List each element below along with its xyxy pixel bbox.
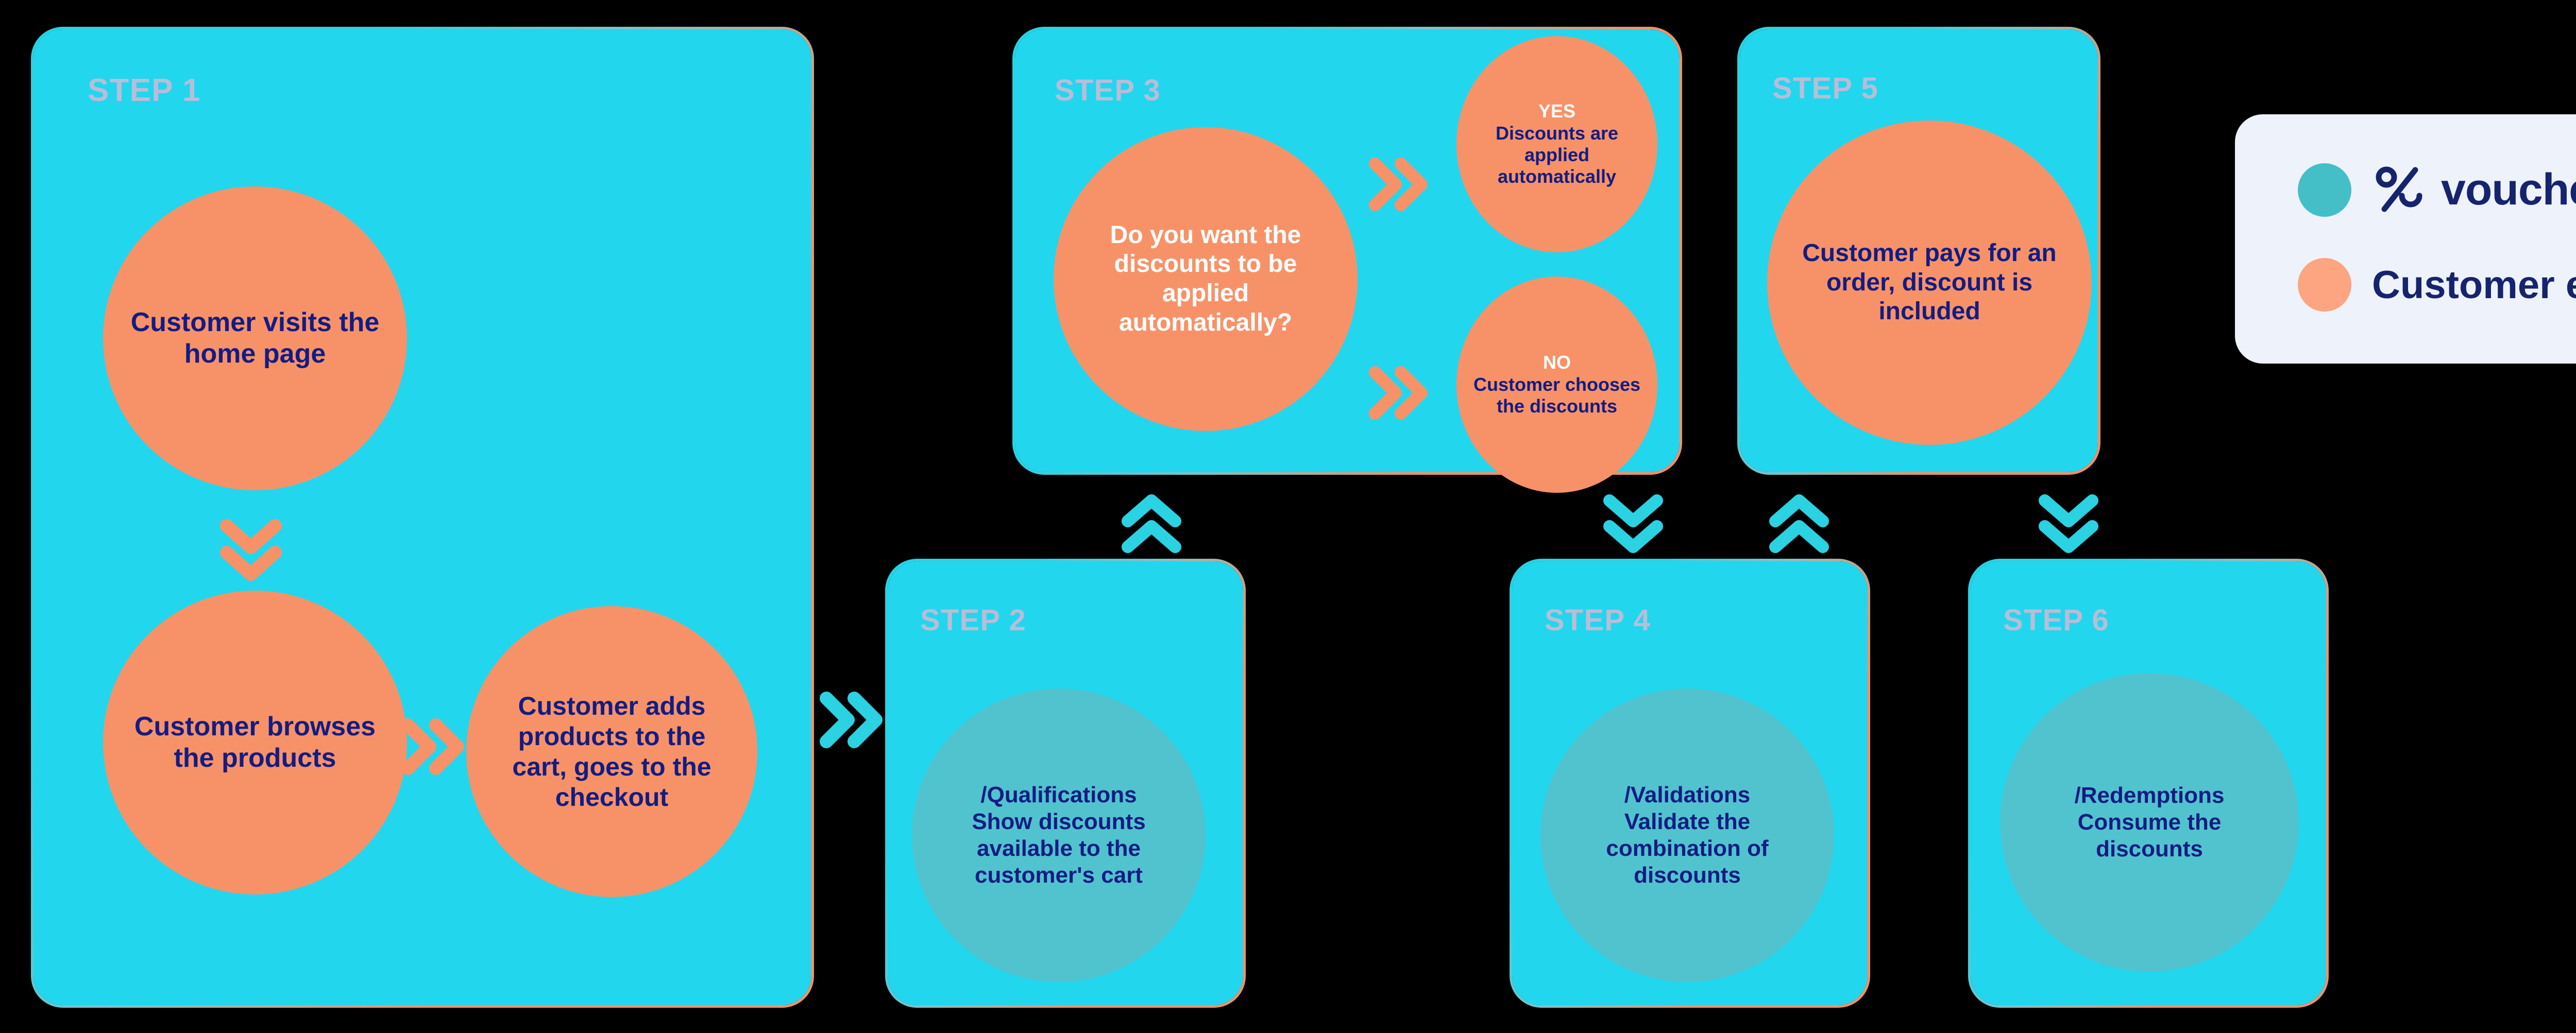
legend-item-customer-experience: Customer experience	[2298, 258, 2576, 312]
bubble-text: Customer visits the home page	[103, 307, 407, 370]
double-chevron-right-icon-step1	[401, 716, 468, 778]
bubble-text: Customer browses the products	[103, 711, 407, 774]
voucherify-logo: voucherify	[2372, 162, 2576, 218]
bubble-text-block: YES Discounts are applied automatically	[1456, 100, 1657, 188]
step-card-6[interactable]: STEP 6 /Redemptions Consume the discount…	[1968, 559, 2329, 1008]
voucherify-wordmark: voucherify	[2441, 164, 2576, 215]
bubble-text: Show discounts available to the customer…	[972, 809, 1145, 888]
step-card-1[interactable]: STEP 1 Customer visits the home page Cus…	[31, 27, 814, 1008]
legend-label-customer-experience: Customer experience	[2372, 263, 2576, 307]
bubble-validations[interactable]: /Validations Validate the combination of…	[1540, 688, 1834, 982]
step-3-label: STEP 3	[1055, 73, 1161, 108]
bubble-text-block: /Redemptions Consume the discounts	[2000, 782, 2299, 863]
step-card-5[interactable]: STEP 5 Customer pays for an order, disco…	[1737, 27, 2100, 475]
bubble-redemptions[interactable]: /Redemptions Consume the discounts	[2000, 673, 2299, 972]
step-2-label: STEP 2	[920, 603, 1026, 638]
bubble-customer-visits-home-page[interactable]: Customer visits the home page	[103, 186, 407, 490]
double-chevron-down-icon-step1	[217, 519, 284, 583]
api-endpoint-label: /Validations	[1624, 782, 1751, 807]
bubble-text: Validate the combination of discounts	[1606, 809, 1768, 888]
double-chevron-up-icon-step2-to-step3	[1121, 494, 1182, 554]
answer-heading: YES	[1538, 100, 1575, 122]
step-card-2[interactable]: STEP 2 /Qualifications Show discounts av…	[885, 559, 1246, 1008]
bubble-text: Consume the discounts	[2078, 810, 2222, 862]
legend-dot-teal-icon	[2298, 163, 2351, 217]
bubble-text-block: NO Customer chooses the discounts	[1456, 352, 1657, 417]
bubble-text-block: /Validations Validate the combination of…	[1540, 782, 1834, 889]
api-endpoint-label: /Redemptions	[2075, 783, 2225, 808]
diagram-canvas: STEP 1 Customer visits the home page Cus…	[0, 0, 2576, 1033]
legend-panel: voucherify Customer experience	[2235, 114, 2576, 364]
double-chevron-right-icon-step3-no	[1368, 364, 1430, 422]
bubble-customer-browses-products[interactable]: Customer browses the products	[103, 591, 407, 894]
step-5-label: STEP 5	[1772, 71, 1878, 106]
bubble-text: Discounts are applied automatically	[1496, 123, 1618, 187]
legend-item-voucherify: voucherify	[2298, 162, 2576, 218]
step-1-label: STEP 1	[88, 72, 201, 109]
bubble-text: Customer chooses the discounts	[1473, 374, 1640, 417]
bubble-qualifications[interactable]: /Qualifications Show discounts available…	[912, 688, 1206, 982]
double-chevron-right-icon-step3-yes	[1368, 156, 1430, 213]
bubble-text: Customer pays for an order, discount is …	[1767, 239, 2092, 326]
step-card-4[interactable]: STEP 4 /Validations Validate the combina…	[1510, 559, 1870, 1008]
answer-heading: NO	[1543, 352, 1571, 373]
bubble-text: Do you want the discounts to be applied …	[1054, 221, 1358, 338]
legend-dot-orange-icon	[2298, 258, 2351, 312]
api-endpoint-label: /Qualifications	[980, 782, 1137, 807]
double-chevron-up-icon-step4-to-step5	[1768, 494, 1830, 554]
step-6-label: STEP 6	[2003, 603, 2109, 638]
bubble-text: Customer adds products to the cart, goes…	[466, 691, 757, 813]
double-chevron-right-icon-step1-to-step2	[819, 689, 886, 751]
double-chevron-down-icon-step5-to-step6	[2038, 494, 2099, 554]
step-4-label: STEP 4	[1545, 603, 1651, 638]
bubble-auto-discount-question[interactable]: Do you want the discounts to be applied …	[1054, 127, 1358, 431]
bubble-text-block: /Qualifications Show discounts available…	[912, 782, 1206, 889]
bubble-answer-no[interactable]: NO Customer chooses the discounts	[1456, 277, 1657, 493]
step-card-3[interactable]: STEP 3 Do you want the discounts to be a…	[1012, 27, 1682, 475]
bubble-answer-yes[interactable]: YES Discounts are applied automatically	[1456, 36, 1657, 252]
bubble-customer-adds-products-to-cart[interactable]: Customer adds products to the cart, goes…	[466, 606, 757, 897]
percent-logo-icon	[2372, 162, 2426, 218]
double-chevron-down-icon-step3-to-step4	[1602, 494, 1664, 554]
bubble-customer-pays[interactable]: Customer pays for an order, discount is …	[1767, 120, 2092, 445]
